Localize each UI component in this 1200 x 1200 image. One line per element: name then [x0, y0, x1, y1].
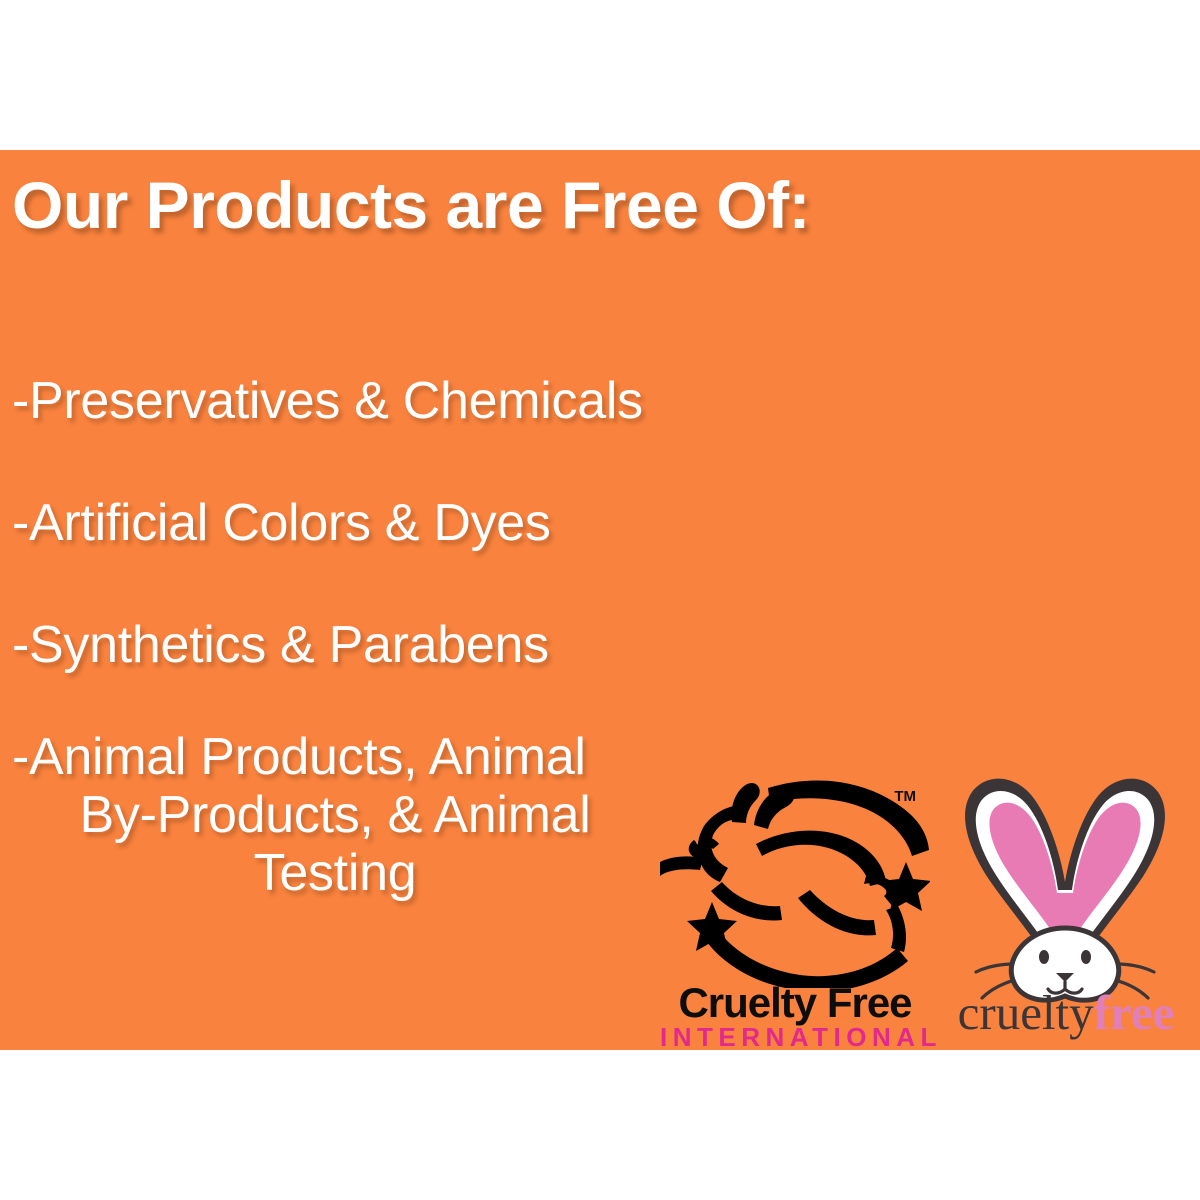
cruelty-free-international-logo: TM Cruelty Free INTERNATIONAL [660, 770, 930, 1050]
cruelty-free-bunny-wordmark: crueltyfree [930, 988, 1200, 1037]
cruelty-free-bunny-logo: crueltyfree [930, 760, 1198, 1050]
list-item-synthetics: -Synthetics & Parabens [12, 616, 549, 674]
list-item-animal-products-line-1: -Animal Products, Animal [12, 728, 658, 786]
bunny-eye-right [1081, 950, 1091, 964]
list-item-animal-products-line-2: By-Products, & Animal [12, 786, 658, 844]
trademark-symbol: TM [894, 788, 916, 805]
page-title: Our Products are Free Of: [12, 172, 810, 238]
heart-ear-bunny-icon [950, 760, 1180, 1010]
wordmark-cruelty: cruelty [958, 985, 1094, 1040]
list-item-animal-products-line-3: Testing [12, 844, 658, 902]
list-item-animal-products: -Animal Products, Animal By-Products, & … [12, 728, 658, 903]
list-item-artificial-colors: -Artificial Colors & Dyes [12, 494, 551, 552]
promo-poster: Our Products are Free Of: -Preservatives… [0, 0, 1200, 1200]
cruelty-free-wordmark: Cruelty Free [660, 982, 930, 1024]
international-submark: INTERNATIONAL [660, 1024, 930, 1050]
wordmark-free: free [1094, 985, 1175, 1040]
orange-banner-panel: Our Products are Free Of: -Preservatives… [0, 150, 1200, 1050]
list-item-preservatives: -Preservatives & Chemicals [12, 372, 643, 430]
bunny-eye-left [1039, 950, 1049, 964]
leaping-rabbit-icon [660, 770, 930, 988]
